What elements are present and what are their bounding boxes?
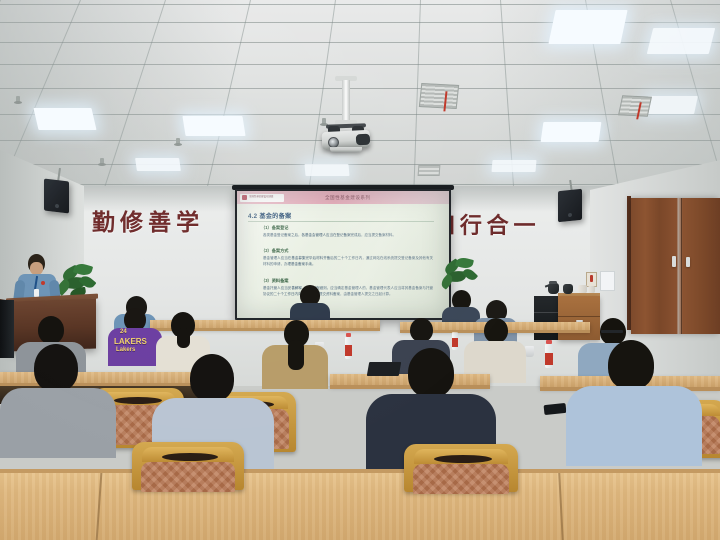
wall-notice-paper [600, 271, 615, 291]
projection-screen: 全国性基金建设培训班 全国性基金建设系列 4.2 基金的备案 （1）备案登记 各… [237, 191, 449, 318]
door-handle[interactable] [686, 257, 690, 267]
floor-monitor [0, 300, 14, 358]
slide-header-title: 全国性基金建设系列 [325, 195, 371, 201]
slide-logo-text: 全国性基金建设培训班 [249, 195, 283, 198]
sprinkler-head [100, 158, 104, 165]
electric-kettle [563, 284, 573, 294]
wall-calligraphy-left: 勤修善学 [92, 203, 204, 237]
air-vent [419, 83, 459, 109]
water-bottle [545, 344, 553, 368]
slide-section-label: （1）备案登记 [261, 225, 288, 231]
ceiling-light-panel [647, 28, 715, 54]
sprinkler-head [176, 138, 180, 145]
jersey-number: 24 [120, 329, 127, 335]
slide-section-body: 基金管理人应当在基金募集完毕后材料齐备后的二十个工作日内，通过网站在线系统提交登… [263, 255, 433, 267]
thermos-flask [588, 286, 595, 293]
slide-logo: 全国性基金建设培训班 [240, 194, 284, 202]
fire-extinguisher-sign [586, 272, 597, 287]
laptop[interactable] [367, 362, 401, 376]
sprinkler-head [322, 118, 326, 125]
door-handle[interactable] [672, 256, 676, 267]
jersey-subtext: Lakers [116, 347, 135, 353]
conference-room-photo: 勤修善学 知行合一 全国性基金建设培训班 全国性基金建设系列 4.2 [0, 0, 720, 540]
ceiling-light-panel [644, 96, 698, 114]
slide-section-label: （3）资料备案 [261, 278, 288, 284]
phone[interactable] [544, 403, 567, 415]
water-bottle [345, 337, 352, 359]
paper-cup [525, 346, 534, 357]
ceiling-light-panel [304, 164, 349, 176]
jersey-text: LAKERS [114, 337, 147, 346]
ceiling-light-panel [548, 10, 627, 44]
thermos-flask [578, 285, 587, 293]
slide-section-body: 基金托管人应当妥善解释，说明过程细则。应当确定基金管理人的，基金管理代表人应当将… [263, 285, 433, 297]
conference-table-foreground [0, 472, 720, 540]
air-vent [618, 95, 652, 117]
air-vent [418, 165, 441, 176]
water-bottle [452, 332, 458, 350]
ceiling-light-panel [182, 116, 245, 136]
electric-kettle [548, 283, 559, 294]
ceiling-light-panel [135, 158, 181, 171]
eyeglasses [601, 330, 623, 333]
ceiling-light-panel [541, 122, 602, 142]
slide-section-body: 各类基金登记备案之后，各基金会管理人应当在登记备案完成后，应当提交备案材料。 [263, 232, 433, 238]
sprinkler-head [16, 96, 20, 103]
slide-header-band: 全国性基金建设培训班 全国性基金建设系列 [237, 191, 449, 204]
ceiling-light-panel [33, 108, 96, 130]
slide-section-label: （2）备案方式 [261, 248, 288, 254]
ceiling-light-panel [491, 160, 536, 172]
slide-heading: 4.2 基金的备案 [248, 211, 292, 220]
suspended-ceiling [0, 0, 720, 198]
